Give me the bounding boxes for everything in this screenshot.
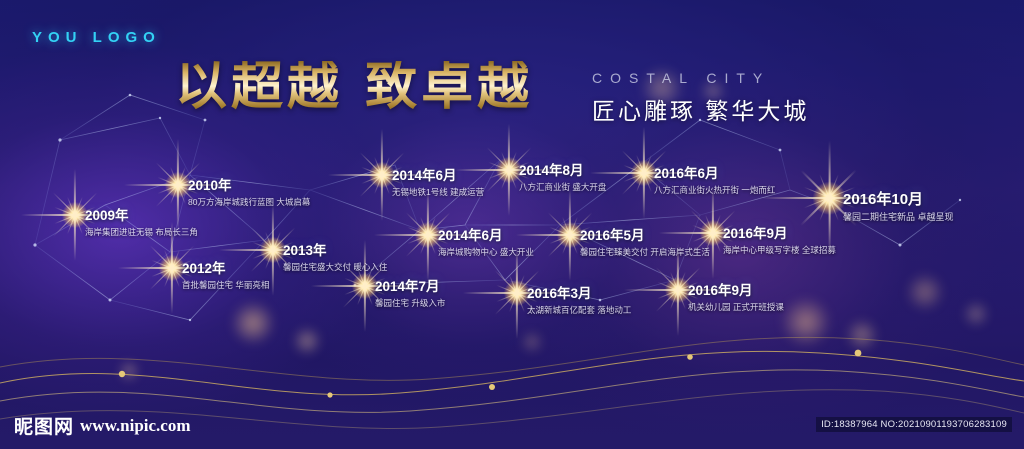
subtitle-english: COSTAL CITY [592, 70, 770, 86]
footer-bar: 昵图网 www.nipic.com ID:18387964 NO:2021090… [0, 405, 1024, 449]
watermark-brand: 昵图网 [14, 412, 74, 439]
watermark: 昵图网 www.nipic.com [14, 412, 191, 439]
subtitle-chinese: 匠心雕琢 繁华大城 [592, 92, 809, 126]
watermark-url: www.nipic.com [80, 416, 191, 436]
image-id-code: ID:18387964 NO:20210901193706283109 [816, 417, 1012, 432]
brand-logo: YOU LOGO [32, 29, 161, 46]
poster-canvas: YOU LOGO 以超越 致卓越 COSTAL CITY 匠心雕琢 繁华大城 2… [0, 0, 1024, 449]
page-title: 以超越 致卓越 [175, 61, 533, 113]
